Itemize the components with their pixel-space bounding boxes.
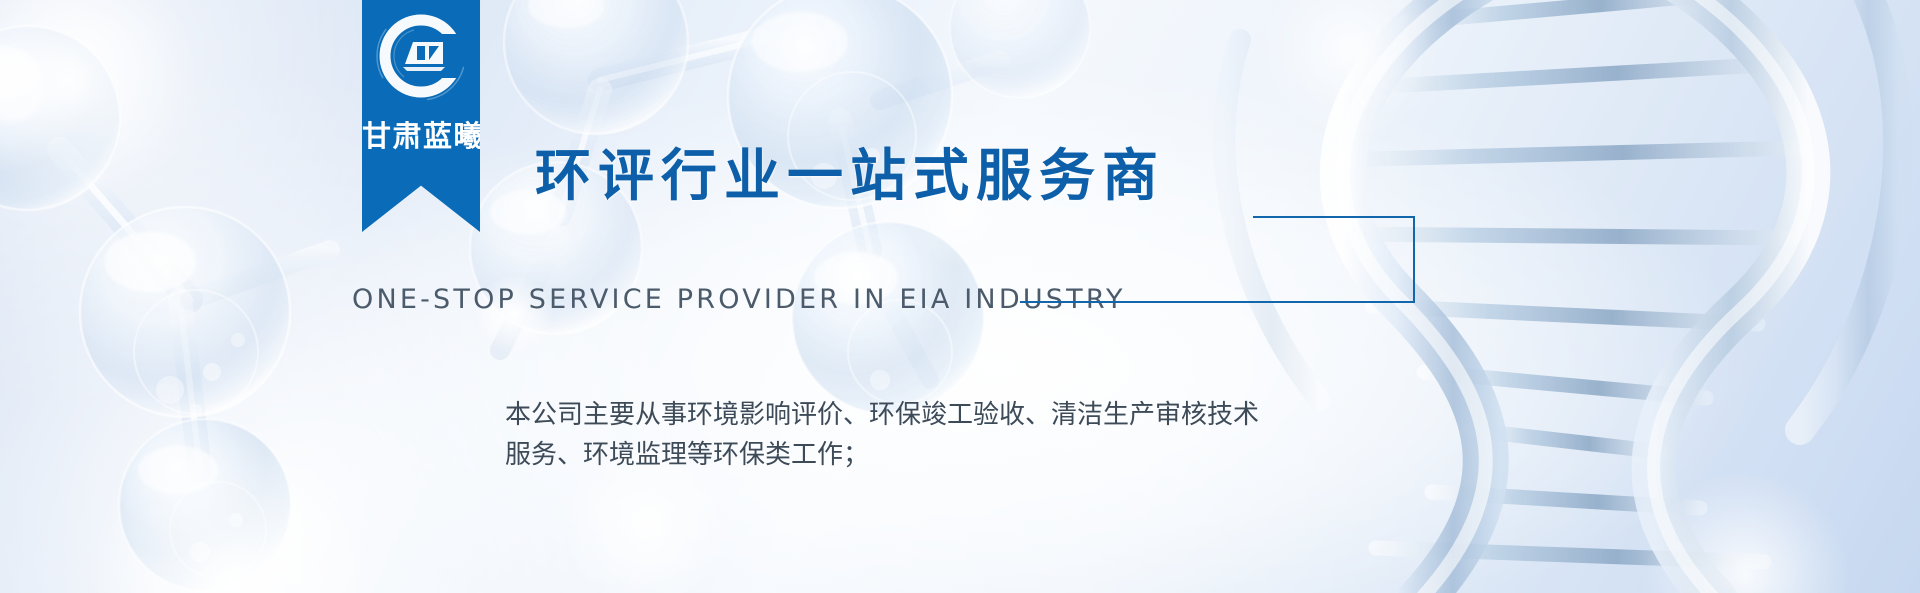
description-line-2: 服务、环境监理等环保类工作； bbox=[505, 435, 1435, 475]
bokeh-light bbox=[80, 430, 380, 593]
company-logo bbox=[362, 6, 480, 106]
page-title: 环评行业一站式服务商 bbox=[535, 148, 1165, 207]
hero-banner: 甘肃蓝曦 环评行业一站式服务商 ONE-STOP SERVICE PROVIDE… bbox=[0, 0, 1920, 593]
description-text: 本公司主要从事环境影响评价、环保竣工验收、清洁生产审核技术 服务、环境监理等环保… bbox=[505, 395, 1435, 476]
molecule-left-graphic bbox=[0, 26, 330, 591]
bokeh-light bbox=[0, 0, 200, 210]
bracket-top-line bbox=[1253, 216, 1415, 218]
company-name: 甘肃蓝曦 bbox=[362, 122, 480, 151]
underline-rule bbox=[1020, 301, 1415, 303]
bracket-vertical-line bbox=[1413, 216, 1415, 303]
brand-ribbon: 甘肃蓝曦 bbox=[362, 0, 480, 232]
bokeh-light bbox=[1640, 470, 1850, 593]
circular-emblem-icon bbox=[373, 8, 469, 104]
page-subtitle: ONE-STOP SERVICE PROVIDER IN EIA INDUSTR… bbox=[352, 284, 1126, 315]
bokeh-light bbox=[1260, 0, 1440, 140]
description-line-1: 本公司主要从事环境影响评价、环保竣工验收、清洁生产审核技术 bbox=[505, 395, 1435, 435]
dna-helix-graphic bbox=[1224, 0, 1898, 593]
